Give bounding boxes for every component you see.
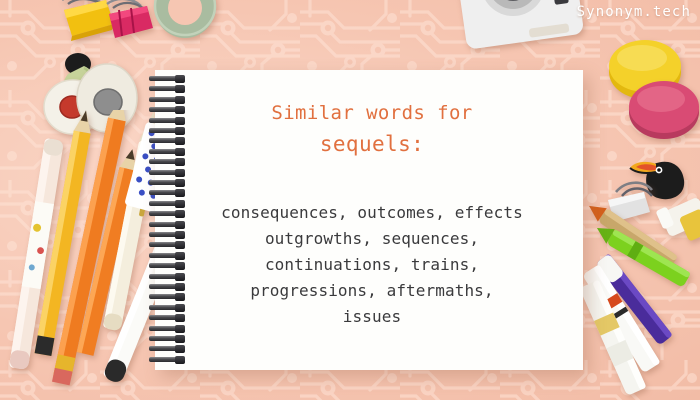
spiral-ring-knob xyxy=(175,252,185,260)
notepad-page: Similar words for sequels: consequences,… xyxy=(155,70,583,370)
spiral-ring-knob xyxy=(175,85,185,93)
spiral-ring-knob xyxy=(175,335,185,343)
spiral-ring-knob xyxy=(175,210,185,218)
spiral-ring-knob xyxy=(175,148,185,156)
spiral-ring xyxy=(149,305,183,310)
notepad-content: Similar words for sequels: consequences,… xyxy=(185,98,559,330)
spiral-ring xyxy=(149,201,183,206)
spiral-ring-knob xyxy=(175,273,185,281)
spiral-ring xyxy=(149,76,183,81)
camera-icon xyxy=(455,0,585,59)
spiral-ring xyxy=(149,170,183,175)
spiral-ring xyxy=(149,118,183,123)
spiral-ring-knob xyxy=(175,169,185,177)
spiral-ring xyxy=(149,346,183,351)
headline-text: Similar words for xyxy=(185,98,559,129)
synonym-line: issues xyxy=(185,304,559,330)
spiral-ring-knob xyxy=(175,231,185,239)
spiral-ring xyxy=(149,180,183,185)
notepad-page-surface: Similar words for sequels: consequences,… xyxy=(155,70,583,370)
spiral-ring-knob xyxy=(175,127,185,135)
spiral-ring xyxy=(149,274,183,279)
spiral-ring xyxy=(149,294,183,299)
spiral-ring xyxy=(149,159,183,164)
spiral-ring-knob xyxy=(175,96,185,104)
spiral-ring xyxy=(149,326,183,331)
spiral-ring-knob xyxy=(175,262,185,270)
spiral-ring xyxy=(149,149,183,154)
spiral-ring xyxy=(149,357,183,362)
spiral-ring xyxy=(149,315,183,320)
spiral-ring xyxy=(149,242,183,247)
spiral-ring xyxy=(149,222,183,227)
spiral-ring-knob xyxy=(175,158,185,166)
synonym-line: continuations, trains, xyxy=(185,252,559,278)
spiral-ring xyxy=(149,336,183,341)
washi-tape-roll-icon xyxy=(150,0,220,38)
spiral-ring-knob xyxy=(175,241,185,249)
site-watermark: Synonym.tech xyxy=(577,4,691,20)
spiral-ring-knob xyxy=(175,179,185,187)
spiral-ring xyxy=(149,107,183,112)
spiral-ring xyxy=(149,263,183,268)
spiral-ring-knob xyxy=(175,356,185,364)
synonym-list: consequences, outcomes, effects outgrowt… xyxy=(185,200,559,330)
spiral-ring xyxy=(149,138,183,143)
synonym-line: progressions, aftermaths, xyxy=(185,278,559,304)
spiral-ring-knob xyxy=(175,221,185,229)
spiral-ring-knob xyxy=(175,304,185,312)
spiral-ring xyxy=(149,86,183,91)
spiral-ring-knob xyxy=(175,283,185,291)
markers-crayons-group xyxy=(576,200,700,400)
spiral-ring-knob xyxy=(175,189,185,197)
spiral-ring-knob xyxy=(175,293,185,301)
synonym-line: outgrowths, sequences, xyxy=(185,226,559,252)
spiral-ring-knob xyxy=(175,200,185,208)
spiral-ring xyxy=(149,190,183,195)
spiral-ring-knob xyxy=(175,345,185,353)
keyword-text: sequels: xyxy=(185,129,559,160)
spiral-ring-knob xyxy=(175,117,185,125)
spiral-binding xyxy=(149,76,185,366)
spiral-ring xyxy=(149,253,183,258)
spiral-ring-knob xyxy=(175,106,185,114)
spiral-ring xyxy=(149,128,183,133)
spiral-ring xyxy=(149,232,183,237)
synonym-line: consequences, outcomes, effects xyxy=(185,200,559,226)
spiral-ring-knob xyxy=(175,314,185,322)
spiral-ring-knob xyxy=(175,75,185,83)
macaron-pink-icon xyxy=(628,76,700,140)
screenshot-root: Similar words for sequels: consequences,… xyxy=(0,0,700,400)
pens-pencils-group xyxy=(0,110,160,400)
spiral-ring-knob xyxy=(175,325,185,333)
spiral-ring-knob xyxy=(175,137,185,145)
spiral-ring xyxy=(149,284,183,289)
spiral-ring xyxy=(149,211,183,216)
spiral-ring xyxy=(149,97,183,102)
